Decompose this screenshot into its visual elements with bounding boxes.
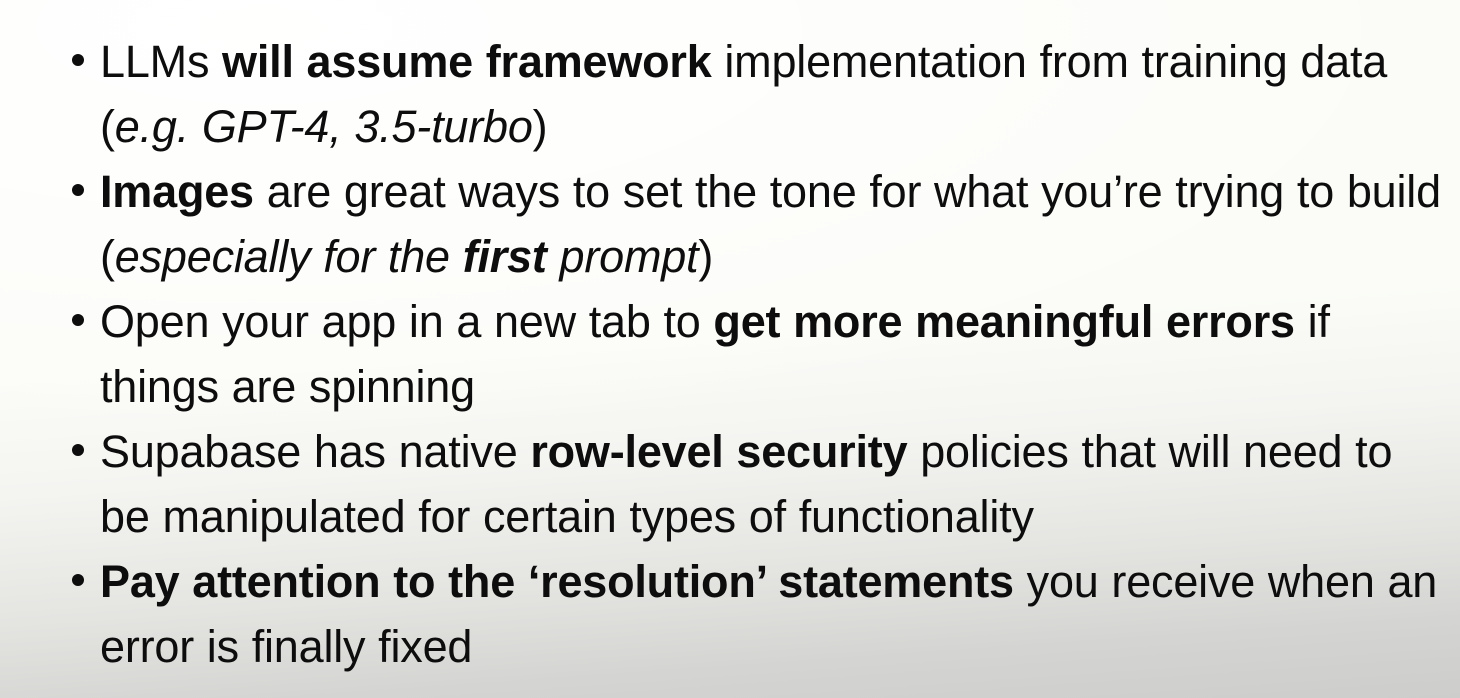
- list-item-text: Supabase has native row-level security p…: [100, 426, 1392, 542]
- bullet-list: LLMs will assume framework implementatio…: [0, 0, 1460, 679]
- list-item: Supabase has native row-level security p…: [72, 419, 1446, 549]
- slide-canvas: LLMs will assume framework implementatio…: [0, 0, 1460, 698]
- list-item-text: Open your app in a new tab to get more m…: [100, 296, 1330, 412]
- list-item: LLMs will assume framework implementatio…: [72, 29, 1446, 159]
- list-item-text: Pay attention to the ‘resolution’ statem…: [100, 556, 1437, 672]
- list-item-text: LLMs will assume framework implementatio…: [100, 36, 1387, 152]
- list-item: Images are great ways to set the tone fo…: [72, 159, 1446, 289]
- list-item-text: Images are great ways to set the tone fo…: [100, 166, 1441, 282]
- bullet-point-icon: [72, 184, 84, 196]
- bullet-point-icon: [72, 314, 84, 326]
- bullet-point-icon: [72, 574, 84, 586]
- list-item: Pay attention to the ‘resolution’ statem…: [72, 549, 1446, 679]
- list-item: Open your app in a new tab to get more m…: [72, 289, 1446, 419]
- bullet-point-icon: [72, 54, 84, 66]
- bullet-point-icon: [72, 444, 84, 456]
